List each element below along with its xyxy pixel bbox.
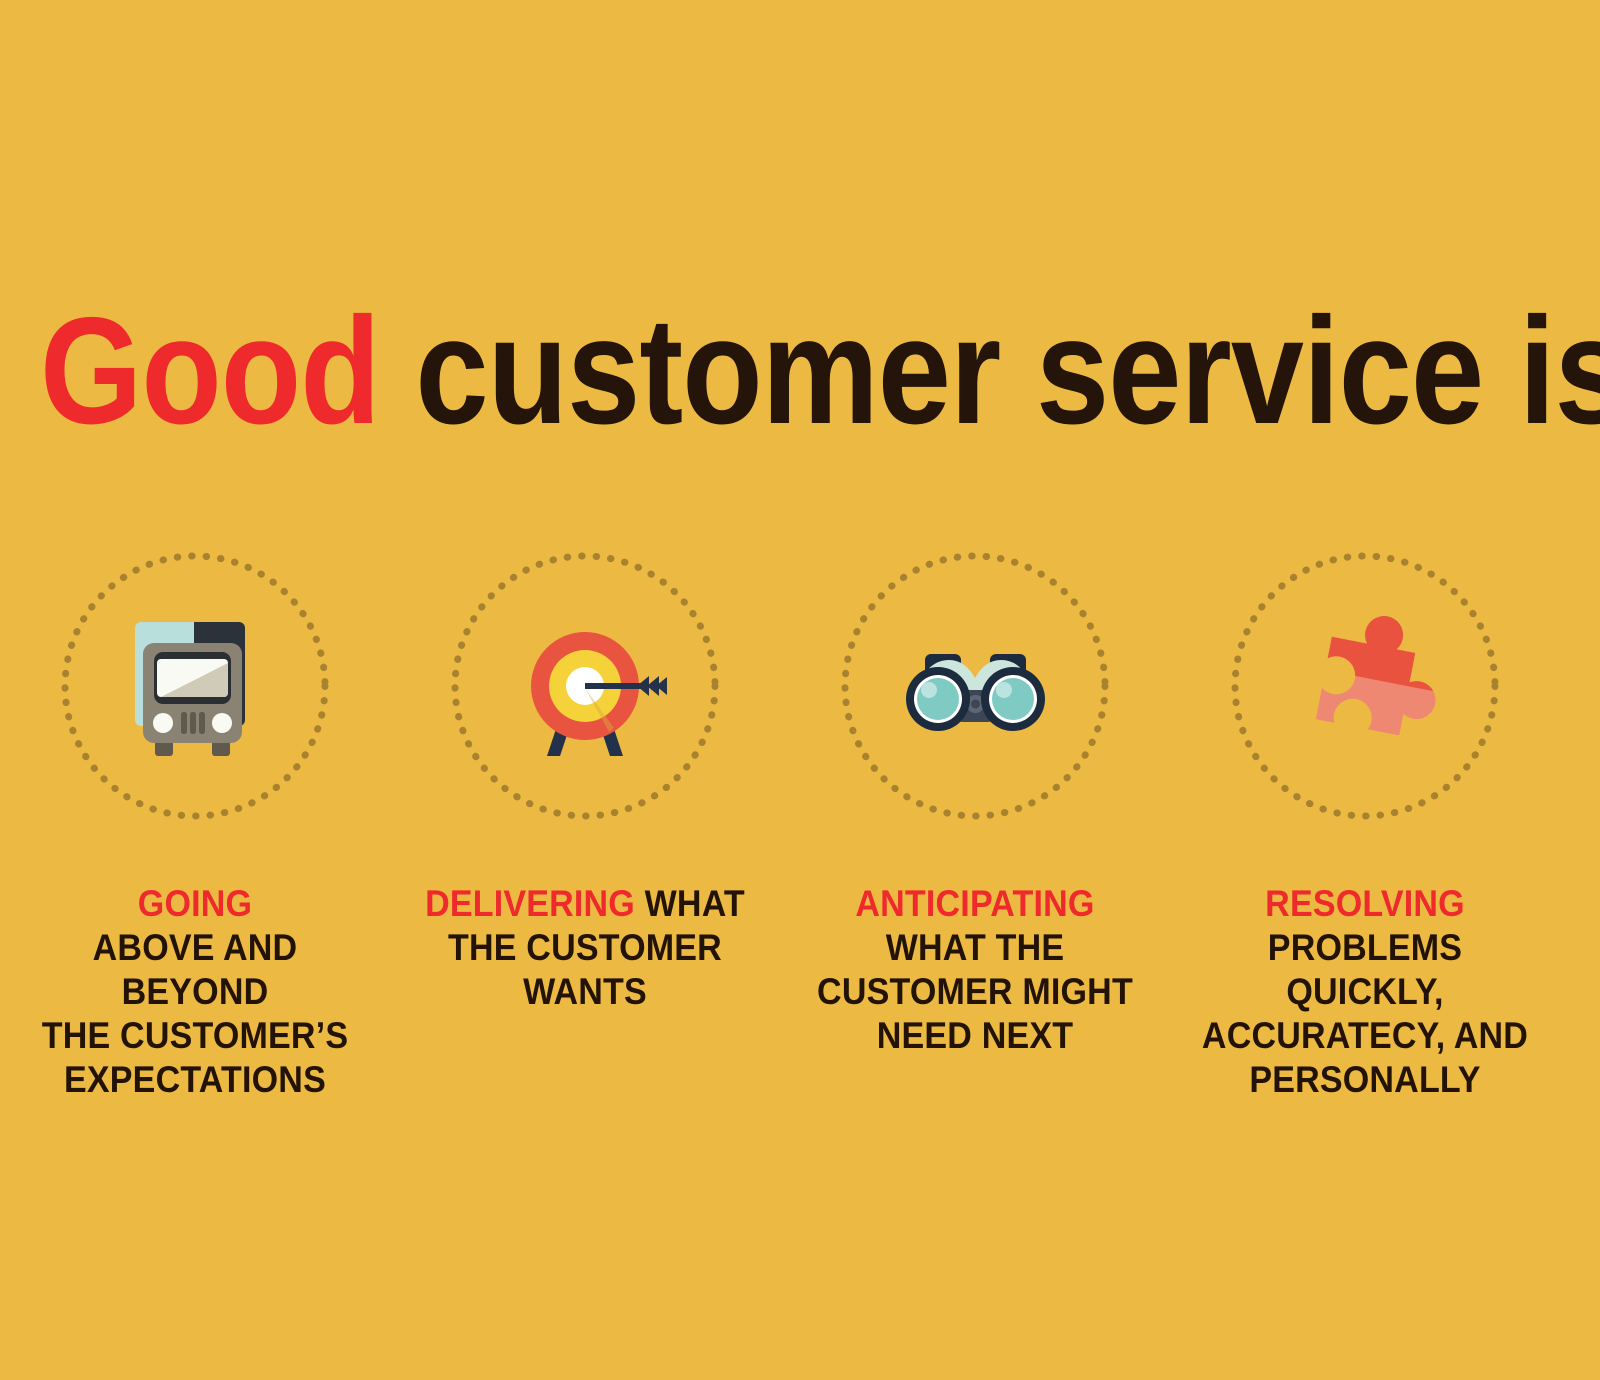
caption-line: THE CUSTOMER [406,926,765,970]
icon-ring-delivering [451,552,719,820]
target-with-arrow-icon [503,604,668,769]
delivery-truck-icon [113,604,278,769]
caption-line: ABOVE AND BEYOND [16,926,375,1014]
caption-delivering: DELIVERING WHAT THE CUSTOMER WANTS [406,882,765,1014]
caption-going: GOING ABOVE AND BEYOND THE CUSTOMER’S EX… [16,882,375,1102]
caption-accent: GOING [16,882,375,926]
page-title-accent: Good [40,286,380,456]
caption-line: THE CUSTOMER’S [16,1014,375,1058]
caption-first-line: DELIVERING WHAT [406,882,765,926]
icon-ring-resolving [1231,552,1499,820]
caption-line: PROBLEMS QUICKLY, [1186,926,1545,1014]
caption-first-line-rest: WHAT [635,883,745,924]
caption-line: CUSTOMER MIGHT [796,970,1155,1014]
caption-line: EXPECTATIONS [16,1058,375,1102]
caption-accent: RESOLVING [1186,882,1545,926]
service-column-delivering: DELIVERING WHAT THE CUSTOMER WANTS [390,552,780,1014]
icon-ring-anticipating [841,552,1109,820]
puzzle-piece-icon [1283,604,1448,769]
caption-accent: DELIVERING [425,883,635,924]
page-title-rest: customer service is: [380,286,1600,456]
caption-resolving: RESOLVING PROBLEMS QUICKLY, ACCURATECY, … [1186,882,1545,1102]
caption-line: ACCURATECY, AND [1186,1014,1545,1058]
service-column-going: GOING ABOVE AND BEYOND THE CUSTOMER’S EX… [0,552,390,1102]
infographic-poster: Good customer service is: [0,0,1600,1380]
service-columns: GOING ABOVE AND BEYOND THE CUSTOMER’S EX… [0,552,1600,1102]
caption-line: WANTS [406,970,765,1014]
caption-line: PERSONALLY [1186,1058,1545,1102]
caption-accent: ANTICIPATING [796,882,1155,926]
caption-anticipating: ANTICIPATING WHAT THE CUSTOMER MIGHT NEE… [796,882,1155,1058]
service-column-anticipating: ANTICIPATING WHAT THE CUSTOMER MIGHT NEE… [780,552,1170,1058]
icon-ring-going [61,552,329,820]
service-column-resolving: RESOLVING PROBLEMS QUICKLY, ACCURATECY, … [1170,552,1560,1102]
caption-line: WHAT THE [796,926,1155,970]
caption-line: NEED NEXT [796,1014,1155,1058]
binoculars-icon [893,604,1058,769]
page-title: Good customer service is: [40,296,1355,446]
